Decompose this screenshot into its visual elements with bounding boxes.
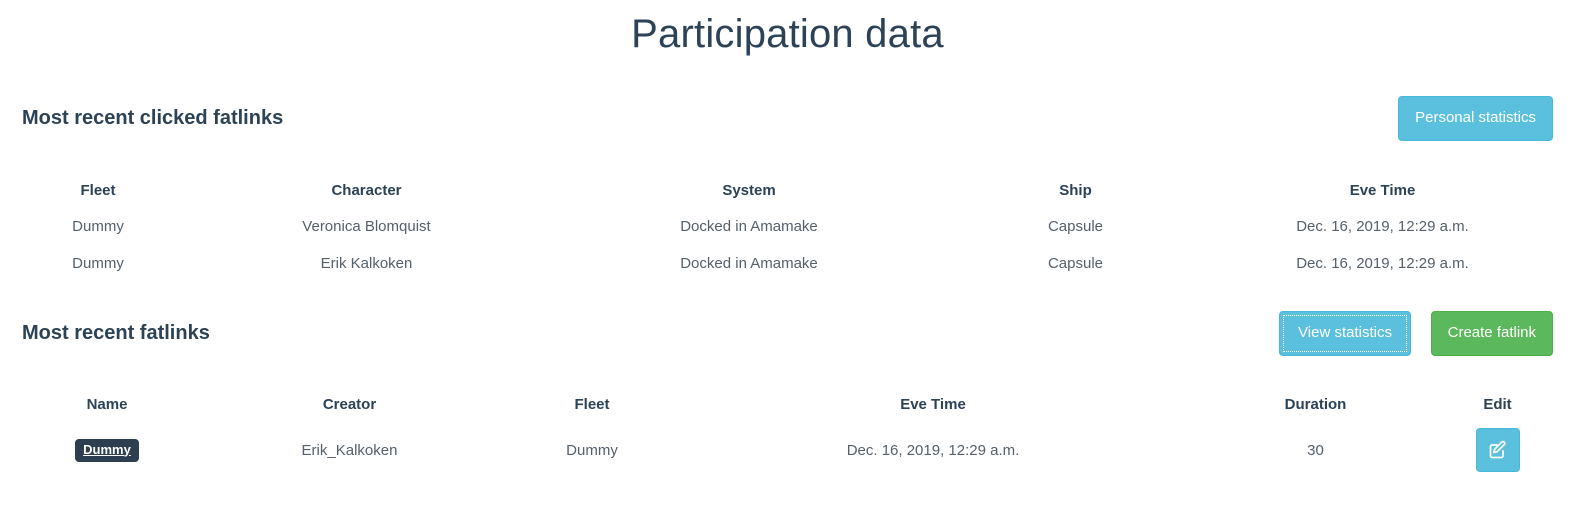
column-header-eve-time: Eve Time	[1212, 172, 1553, 208]
cell-fleet: Dummy	[22, 245, 174, 282]
clicked-fatlinks-section-header: Most recent clicked fatlinks Personal st…	[22, 96, 1553, 142]
column-header-character: Character	[174, 172, 559, 208]
cell-duration: 30	[1189, 422, 1442, 478]
clicked-fatlinks-table: Fleet Character System Ship Eve Time Dum…	[22, 172, 1553, 282]
table-row: Dummy Erik_Kalkoken Dummy Dec. 16, 2019,…	[22, 422, 1553, 478]
cell-name: Dummy	[22, 422, 192, 478]
cell-eve-time: Dec. 16, 2019, 12:29 a.m.	[677, 422, 1189, 478]
cell-fleet: Dummy	[507, 422, 677, 478]
cell-character: Erik Kalkoken	[174, 245, 559, 282]
cell-edit	[1442, 422, 1553, 478]
table-header-row: Name Creator Fleet Eve Time Duration Edi…	[22, 386, 1553, 422]
table-row: Dummy Erik Kalkoken Docked in Amamake Ca…	[22, 245, 1553, 282]
edit-fatlink-button[interactable]	[1476, 428, 1520, 472]
cell-character: Veronica Blomquist	[174, 208, 559, 245]
create-fatlink-button[interactable]: Create fatlink	[1431, 311, 1553, 356]
column-header-creator: Creator	[192, 386, 507, 422]
column-header-edit: Edit	[1442, 386, 1553, 422]
column-header-system: System	[559, 172, 939, 208]
recent-fatlinks-table: Name Creator Fleet Eve Time Duration Edi…	[22, 386, 1553, 478]
fatlink-name-badge[interactable]: Dummy	[75, 439, 139, 462]
view-statistics-button[interactable]: View statistics	[1279, 311, 1411, 356]
table-header-row: Fleet Character System Ship Eve Time	[22, 172, 1553, 208]
cell-creator: Erik_Kalkoken	[192, 422, 507, 478]
column-header-ship: Ship	[939, 172, 1212, 208]
cell-ship: Capsule	[939, 245, 1212, 282]
clicked-fatlinks-heading: Most recent clicked fatlinks	[22, 105, 283, 131]
personal-statistics-button[interactable]: Personal statistics	[1398, 96, 1553, 141]
column-header-fleet: Fleet	[507, 386, 677, 422]
page-title: Participation data	[0, 8, 1575, 60]
cell-system: Docked in Amamake	[559, 208, 939, 245]
recent-fatlinks-heading: Most recent fatlinks	[22, 320, 210, 346]
cell-system: Docked in Amamake	[559, 245, 939, 282]
cell-eve-time: Dec. 16, 2019, 12:29 a.m.	[1212, 245, 1553, 282]
table-row: Dummy Veronica Blomquist Docked in Amama…	[22, 208, 1553, 245]
column-header-name: Name	[22, 386, 192, 422]
column-header-eve-time: Eve Time	[677, 386, 1189, 422]
cell-eve-time: Dec. 16, 2019, 12:29 a.m.	[1212, 208, 1553, 245]
participation-data-page: Participation data Most recent clicked f…	[0, 0, 1575, 511]
column-header-fleet: Fleet	[22, 172, 174, 208]
recent-fatlinks-section-header: Most recent fatlinks View statistics Cre…	[22, 311, 1553, 357]
edit-pencil-square-icon	[1488, 440, 1508, 460]
column-header-duration: Duration	[1189, 386, 1442, 422]
cell-fleet: Dummy	[22, 208, 174, 245]
cell-ship: Capsule	[939, 208, 1212, 245]
